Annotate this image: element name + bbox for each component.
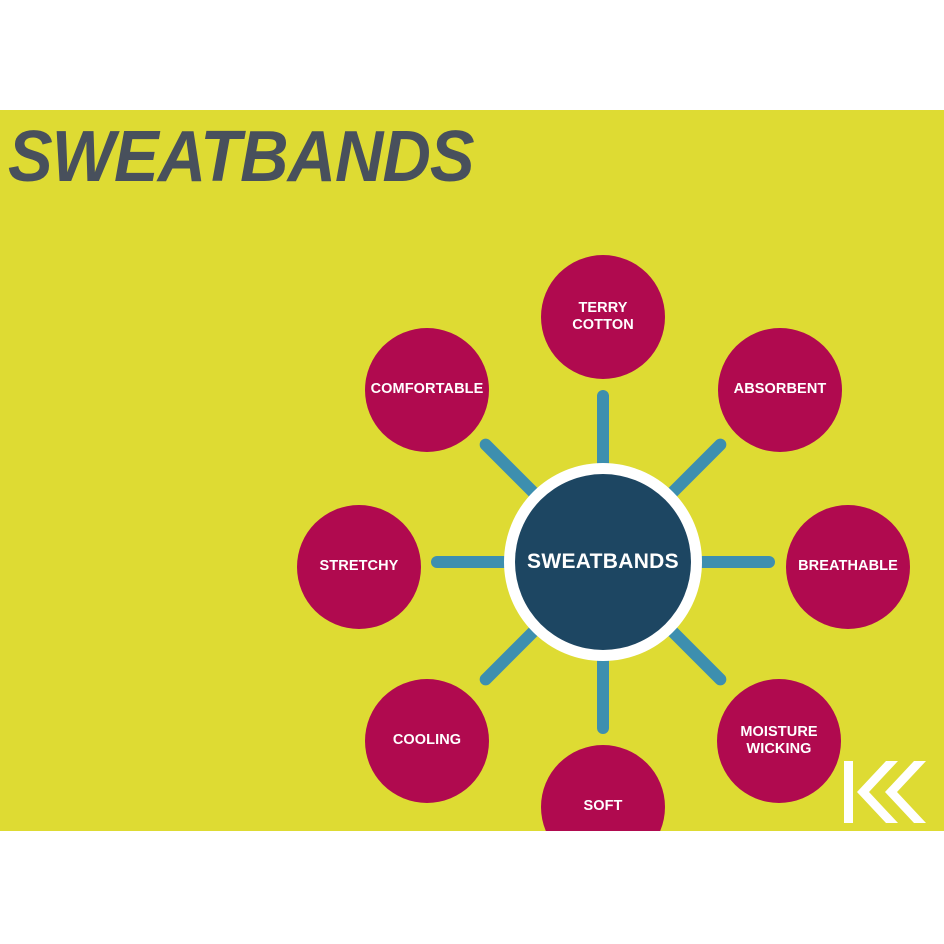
node-cooling[interactable]: COOLING xyxy=(365,679,489,803)
node-label-line1: SOFT xyxy=(583,798,622,815)
node-moisture-wicking[interactable]: MOISTUREWICKING xyxy=(717,679,841,803)
node-label-breathable: BREATHABLE xyxy=(798,558,898,575)
node-label-comfortable: COMFORTABLE xyxy=(371,381,484,398)
node-soft[interactable]: SOFT xyxy=(541,745,665,831)
node-label-cooling: COOLING xyxy=(393,732,461,749)
node-label-soft: SOFT xyxy=(583,798,622,815)
node-label-line1: ABSORBENT xyxy=(734,381,827,398)
node-label-absorbent: ABSORBENT xyxy=(734,381,827,398)
node-label-line1: STRETCHY xyxy=(320,558,399,575)
node-label-stretchy: STRETCHY xyxy=(320,558,399,575)
hub-label: SWEATBANDS xyxy=(527,550,679,574)
node-breathable[interactable]: BREATHABLE xyxy=(786,505,910,629)
spoke-moisture-wicking xyxy=(664,623,729,688)
node-label-line2: WICKING xyxy=(740,741,817,758)
node-comfortable[interactable]: COMFORTABLE xyxy=(365,328,489,452)
spoke-soft xyxy=(597,654,609,734)
spoke-absorbent xyxy=(664,436,729,501)
hub-circle[interactable]: SWEATBANDS xyxy=(515,474,691,650)
yellow-content-panel: SWEATBANDS TERRYCOTTONABSORBENTBREATHABL… xyxy=(0,110,944,831)
spoke-stretchy xyxy=(431,556,511,568)
spoke-breathable xyxy=(695,556,775,568)
hub-and-spoke-diagram: TERRYCOTTONABSORBENTBREATHABLEMOISTUREWI… xyxy=(0,110,944,831)
node-label-line1: COMFORTABLE xyxy=(371,381,484,398)
node-label-line1: MOISTURE xyxy=(740,724,817,741)
kk-chevron-logo xyxy=(842,759,928,825)
spoke-terry-cotton xyxy=(597,390,609,470)
node-stretchy[interactable]: STRETCHY xyxy=(297,505,421,629)
node-label-line1: TERRY xyxy=(572,300,634,317)
node-terry-cotton[interactable]: TERRYCOTTON xyxy=(541,255,665,379)
node-label-line1: COOLING xyxy=(393,732,461,749)
node-label-line1: BREATHABLE xyxy=(798,558,898,575)
spoke-cooling xyxy=(477,623,542,688)
node-label-moisture-wicking: MOISTUREWICKING xyxy=(740,724,817,758)
slide-canvas: SWEATBANDS TERRYCOTTONABSORBENTBREATHABL… xyxy=(0,0,944,944)
node-label-terry-cotton: TERRYCOTTON xyxy=(572,300,634,334)
node-label-line2: COTTON xyxy=(572,317,634,334)
node-absorbent[interactable]: ABSORBENT xyxy=(718,328,842,452)
